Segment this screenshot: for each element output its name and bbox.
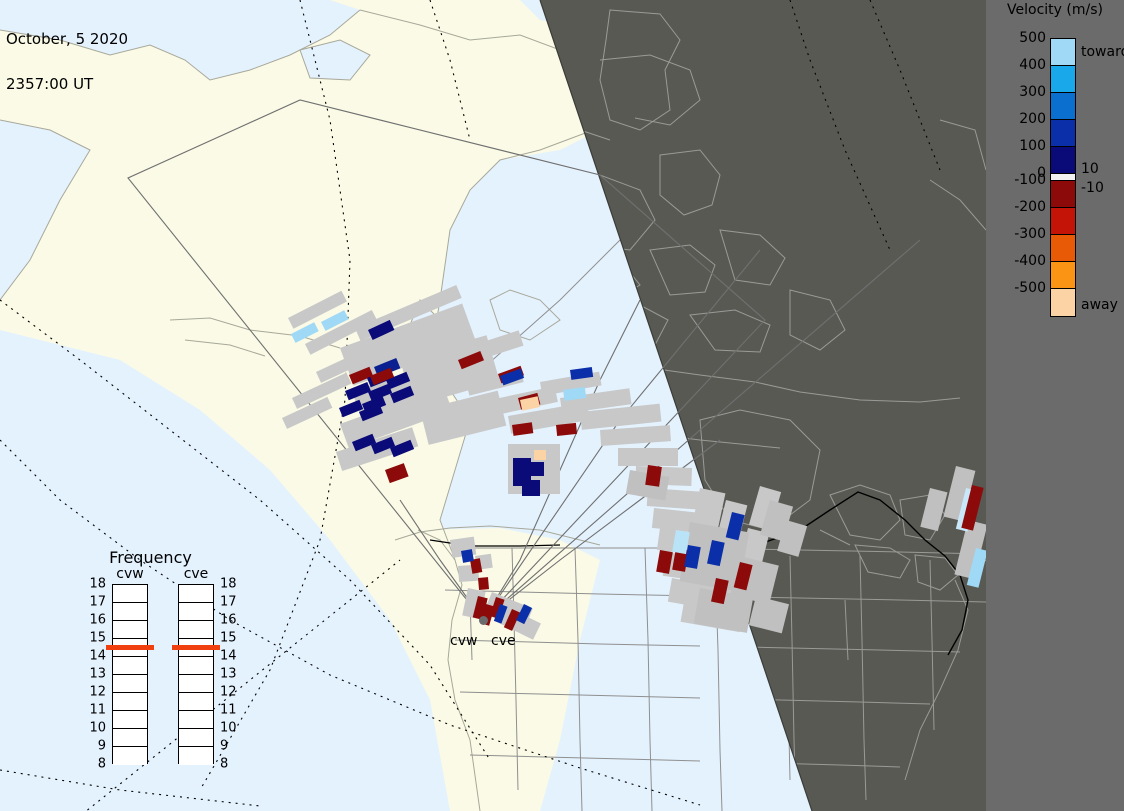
colorbar-away-label: away [1081,297,1118,313]
frequency-tick-label: 10 [84,721,106,736]
frequency-tick-label: 16 [220,613,242,628]
frequency-scale-cell [179,675,213,693]
frequency-marker-cve [172,645,220,650]
frequency-tick-label: 18 [220,577,242,592]
frequency-scale-cell [113,585,147,603]
colorbar-tick-label: 300 [1019,84,1046,100]
frequency-scale-cve [178,584,214,764]
frequency-tick-label: 17 [84,595,106,610]
frequency-scale-cell [179,621,213,639]
colorbar-segment [1051,147,1075,174]
frequency-scale-cell [113,747,147,765]
colorbar-toward-label: toward [1081,44,1124,60]
frequency-scale-cell [179,729,213,747]
timestamp: October, 5 2020 2357:00 UT [6,2,128,122]
velocity-cell [556,423,577,436]
frequency-legend-title: Frequency [88,548,213,567]
frequency-scale-cell [179,657,213,675]
colorbar-tick-label: -500 [1014,280,1046,296]
radar-label-cvw: cvw [450,633,477,649]
frequency-tick-label: 11 [84,703,106,718]
frequency-scale-cell [113,603,147,621]
frequency-tick-label: 9 [220,739,242,754]
velocity-cell [461,549,474,563]
frequency-tick-label: 16 [84,613,106,628]
colorbar-segment [1051,66,1075,93]
frequency-tick-label: 11 [220,703,242,718]
frequency-scale-cell [179,585,213,603]
timestamp-time: 2357:00 UT [6,77,128,92]
frequency-scale-cell [179,693,213,711]
colorbar-segment [1051,120,1075,147]
frequency-scale-cell [113,621,147,639]
superdarn-map-figure: October, 5 2020 2357:00 UT cvw cve Frequ… [0,0,1124,811]
timestamp-date: October, 5 2020 [6,32,128,47]
frequency-scale-cell [113,729,147,747]
colorbar-tick-label: 200 [1019,111,1046,127]
colorbar-tick-label: -300 [1014,226,1046,242]
frequency-legend: Frequency cvw18171615141312111098cve1817… [88,548,248,798]
velocity-cell [645,465,662,487]
colorbar-segment [1051,208,1075,235]
velocity-colorbar-panel: Velocity (m/s) 5004003002001000-100-200-… [986,0,1124,811]
colorbar-zero-positive-label: 10 [1081,161,1099,177]
velocity-cell [513,458,531,472]
colorbar-segment [1051,174,1075,181]
colorbar-segment [1051,93,1075,120]
frequency-tick-label: 15 [220,631,242,646]
frequency-tick-label: 18 [84,577,106,592]
frequency-column-label-cve: cve [173,566,219,582]
frequency-scale-cell [179,711,213,729]
radar-site-marker [479,616,488,625]
frequency-scale-cell [179,603,213,621]
frequency-tick-label: 13 [84,667,106,682]
colorbar-segment [1051,39,1075,66]
frequency-tick-label: 14 [84,649,106,664]
velocity-cell [530,462,544,476]
colorbar-segment [1051,181,1075,208]
frequency-scale-cell [113,657,147,675]
frequency-scale-cvw [112,584,148,764]
colorbar-tick-label: 100 [1019,138,1046,154]
colorbar-segment [1051,289,1075,316]
colorbar-title: Velocity (m/s) [986,2,1124,18]
frequency-tick-label: 15 [84,631,106,646]
frequency-tick-label: 17 [220,595,242,610]
velocity-cell [522,480,540,496]
colorbar-tick-label: -400 [1014,253,1046,269]
colorbar-zero-negative-label: -10 [1081,180,1104,196]
frequency-tick-label: 8 [84,757,106,772]
colorbar-tick-label: 400 [1019,57,1046,73]
frequency-tick-label: 14 [220,649,242,664]
colorbar-segment [1051,262,1075,289]
velocity-cell [534,450,546,460]
frequency-tick-label: 10 [220,721,242,736]
frequency-scale-cell [113,693,147,711]
colorbar-tick-label: -100 [1014,172,1046,188]
velocity-cell [478,577,489,590]
frequency-tick-label: 12 [84,685,106,700]
colorbar-segment [1051,235,1075,262]
frequency-scale-cell [113,675,147,693]
frequency-column-label-cvw: cvw [107,566,153,582]
map-canvas[interactable]: October, 5 2020 2357:00 UT cvw cve Frequ… [0,0,986,811]
colorbar-swatches [1050,38,1076,317]
frequency-scale-cell [113,711,147,729]
frequency-tick-label: 9 [84,739,106,754]
colorbar-tick-label: -200 [1014,199,1046,215]
radar-label-cve: cve [491,633,516,649]
colorbar-tick-label: 500 [1019,30,1046,46]
frequency-marker-cvw [106,645,154,650]
frequency-tick-label: 13 [220,667,242,682]
frequency-tick-label: 8 [220,757,242,772]
frequency-tick-label: 12 [220,685,242,700]
frequency-scale-cell [179,747,213,765]
